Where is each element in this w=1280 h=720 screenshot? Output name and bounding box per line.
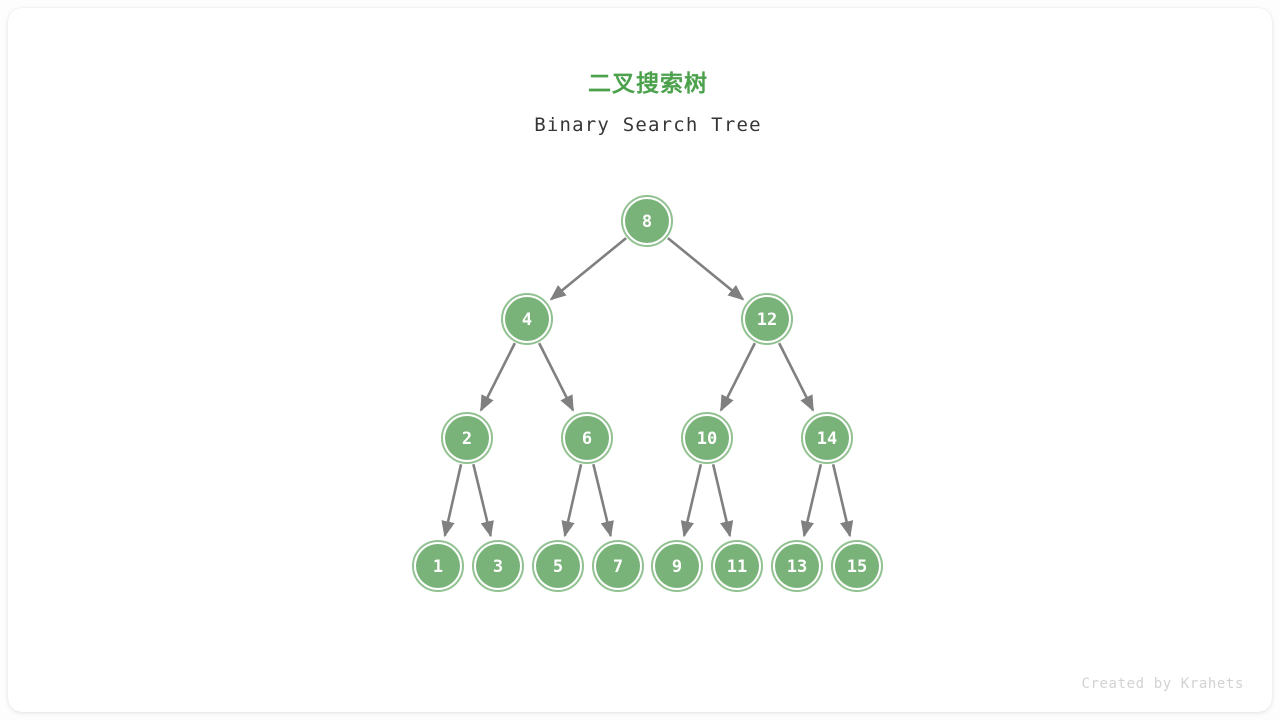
tree-node-label: 6 — [582, 429, 592, 449]
tree-node-label: 14 — [817, 429, 837, 449]
tree-node-label: 9 — [672, 557, 682, 577]
tree-edge — [473, 464, 490, 536]
tree-node-label: 13 — [787, 557, 807, 577]
tree-node[interactable]: 8 — [622, 196, 672, 246]
tree-node[interactable]: 13 — [772, 541, 822, 591]
tree-edge — [481, 343, 515, 410]
tree-node-label: 7 — [613, 557, 623, 577]
tree-edge — [779, 343, 813, 410]
tree-edge — [721, 343, 755, 410]
tree-edge — [804, 464, 821, 536]
tree-node-label: 10 — [697, 429, 717, 449]
tree-node[interactable]: 2 — [442, 413, 492, 463]
tree-edge — [668, 238, 743, 299]
tree-node[interactable]: 11 — [712, 541, 762, 591]
tree-node[interactable]: 9 — [652, 541, 702, 591]
tree-node[interactable]: 14 — [802, 413, 852, 463]
tree-node[interactable]: 15 — [832, 541, 882, 591]
tree-node[interactable]: 3 — [473, 541, 523, 591]
tree-node[interactable]: 5 — [533, 541, 583, 591]
binary-search-tree-diagram: 841226101413579111315 — [8, 8, 1272, 712]
tree-node-label: 3 — [493, 557, 503, 577]
tree-edge — [445, 464, 461, 535]
tree-node[interactable]: 7 — [593, 541, 643, 591]
tree-node-label: 5 — [553, 557, 563, 577]
tree-node-label: 4 — [522, 310, 532, 330]
tree-node-label: 2 — [462, 429, 472, 449]
tree-node-label: 1 — [433, 557, 443, 577]
screenshot-canvas: 二叉搜索树 Binary Search Tree 841226101413579… — [0, 0, 1280, 720]
tree-node[interactable]: 10 — [682, 413, 732, 463]
tree-edges — [445, 238, 850, 536]
tree-nodes: 841226101413579111315 — [413, 196, 882, 591]
tree-node-label: 8 — [642, 212, 652, 232]
tree-edge — [684, 464, 701, 536]
tree-node[interactable]: 12 — [742, 294, 792, 344]
tree-node[interactable]: 1 — [413, 541, 463, 591]
tree-node-label: 15 — [847, 557, 867, 577]
tree-edge — [539, 343, 573, 410]
tree-node-label: 12 — [757, 310, 777, 330]
tree-edge — [593, 464, 610, 536]
tree-node[interactable]: 4 — [502, 294, 552, 344]
tree-node[interactable]: 6 — [562, 413, 612, 463]
credit-text: Created by Krahets — [1081, 676, 1244, 692]
tree-edge — [833, 464, 850, 536]
tree-node-label: 11 — [727, 557, 747, 577]
tree-edge — [713, 464, 730, 536]
tree-edge — [551, 238, 626, 299]
tree-edge — [565, 464, 581, 535]
content-card: 二叉搜索树 Binary Search Tree 841226101413579… — [8, 8, 1272, 712]
